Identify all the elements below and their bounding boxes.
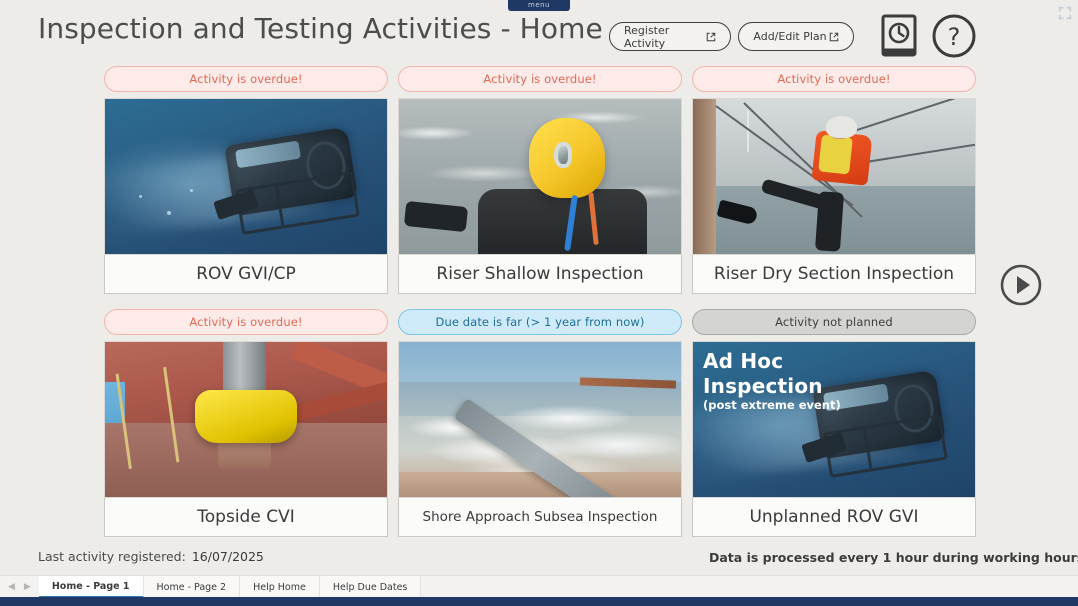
adhoc-overlay-text: Ad Hoc Inspection (post extreme event) xyxy=(703,350,841,412)
diver-visor xyxy=(554,142,572,169)
activity-card: Activity is overdue! Topside CVI xyxy=(104,309,388,537)
processing-note: Data is processed every 1 hour during wo… xyxy=(709,550,1078,565)
diver-helmet xyxy=(529,118,605,199)
status-badge[interactable]: Activity is overdue! xyxy=(398,66,682,92)
diver-suit xyxy=(478,189,647,255)
tab-home-page-2[interactable]: Home - Page 2 xyxy=(144,576,241,598)
status-badge[interactable]: Activity is overdue! xyxy=(692,66,976,92)
status-badge[interactable]: Activity not planned xyxy=(692,309,976,335)
yellow-clamp xyxy=(195,390,297,443)
adhoc-overlay-line1: Ad Hoc xyxy=(703,350,841,373)
last-activity-label: Last activity registered: xyxy=(38,549,186,564)
wind-turbine xyxy=(747,111,749,151)
particle xyxy=(139,195,142,198)
tab-help-due-dates[interactable]: Help Due Dates xyxy=(320,576,422,598)
status-badge[interactable]: Activity is overdue! xyxy=(104,309,388,335)
activity-title[interactable]: Topside CVI xyxy=(104,497,388,537)
sky xyxy=(399,342,681,382)
tab-nav-arrows: ◀ ▶ xyxy=(0,576,39,598)
activity-title[interactable]: Shore Approach Subsea Inspection xyxy=(398,497,682,537)
technician-helmet xyxy=(826,116,857,138)
status-badge[interactable]: Due date is far (> 1 year from now) xyxy=(398,309,682,335)
activity-title[interactable]: ROV GVI/CP xyxy=(104,254,388,294)
activity-card: Activity is overdue! Riser Shallow Inspe… xyxy=(398,66,682,294)
technician-leg xyxy=(815,191,844,252)
activity-title[interactable]: Riser Dry Section Inspection xyxy=(692,254,976,294)
activity-card-grid: Activity is overdue! ROV GVI/CP Activity… xyxy=(0,0,1078,606)
activity-image-adhoc-rov[interactable]: Ad Hoc Inspection (post extreme event) xyxy=(692,341,976,498)
last-activity-value: 16/07/2025 xyxy=(192,549,264,564)
activity-card: Activity is overdue! Riser Dry Section I… xyxy=(692,66,976,294)
status-badge[interactable]: Activity is overdue! xyxy=(104,66,388,92)
structure-pillar xyxy=(693,99,716,254)
particle xyxy=(167,211,171,215)
activity-card: Activity is overdue! ROV GVI/CP xyxy=(104,66,388,294)
chevron-right-icon[interactable]: ▶ xyxy=(24,582,31,592)
activity-image-shore-approach[interactable] xyxy=(398,341,682,498)
technician-vest xyxy=(818,135,853,175)
adhoc-overlay-line3: (post extreme event) xyxy=(703,399,841,412)
tab-home-page-1[interactable]: Home - Page 1 xyxy=(39,576,144,598)
particle xyxy=(190,189,193,192)
chevron-left-icon[interactable]: ◀ xyxy=(8,582,15,592)
tab-help-home[interactable]: Help Home xyxy=(240,576,320,598)
activity-image-topside[interactable] xyxy=(104,341,388,498)
sheet-tab-bar: ◀ ▶ Home - Page 1 Home - Page 2 Help Hom… xyxy=(0,575,1078,598)
activity-card: Activity not planned Ad Hoc Inspection (… xyxy=(692,309,976,537)
last-activity-registered: Last activity registered:16/07/2025 xyxy=(38,549,264,564)
adhoc-overlay-line2: Inspection xyxy=(703,375,841,398)
activity-image-diver[interactable] xyxy=(398,98,682,255)
activity-title[interactable]: Unplanned ROV GVI xyxy=(692,497,976,537)
activity-title[interactable]: Riser Shallow Inspection xyxy=(398,254,682,294)
play-circle-next-icon xyxy=(999,263,1043,307)
app-bottom-bar xyxy=(0,597,1078,606)
activity-card: Due date is far (> 1 year from now) Shor… xyxy=(398,309,682,537)
next-page-button[interactable] xyxy=(999,263,1043,307)
activity-image-rov[interactable] xyxy=(104,98,388,255)
activity-image-rope-access[interactable] xyxy=(692,98,976,255)
